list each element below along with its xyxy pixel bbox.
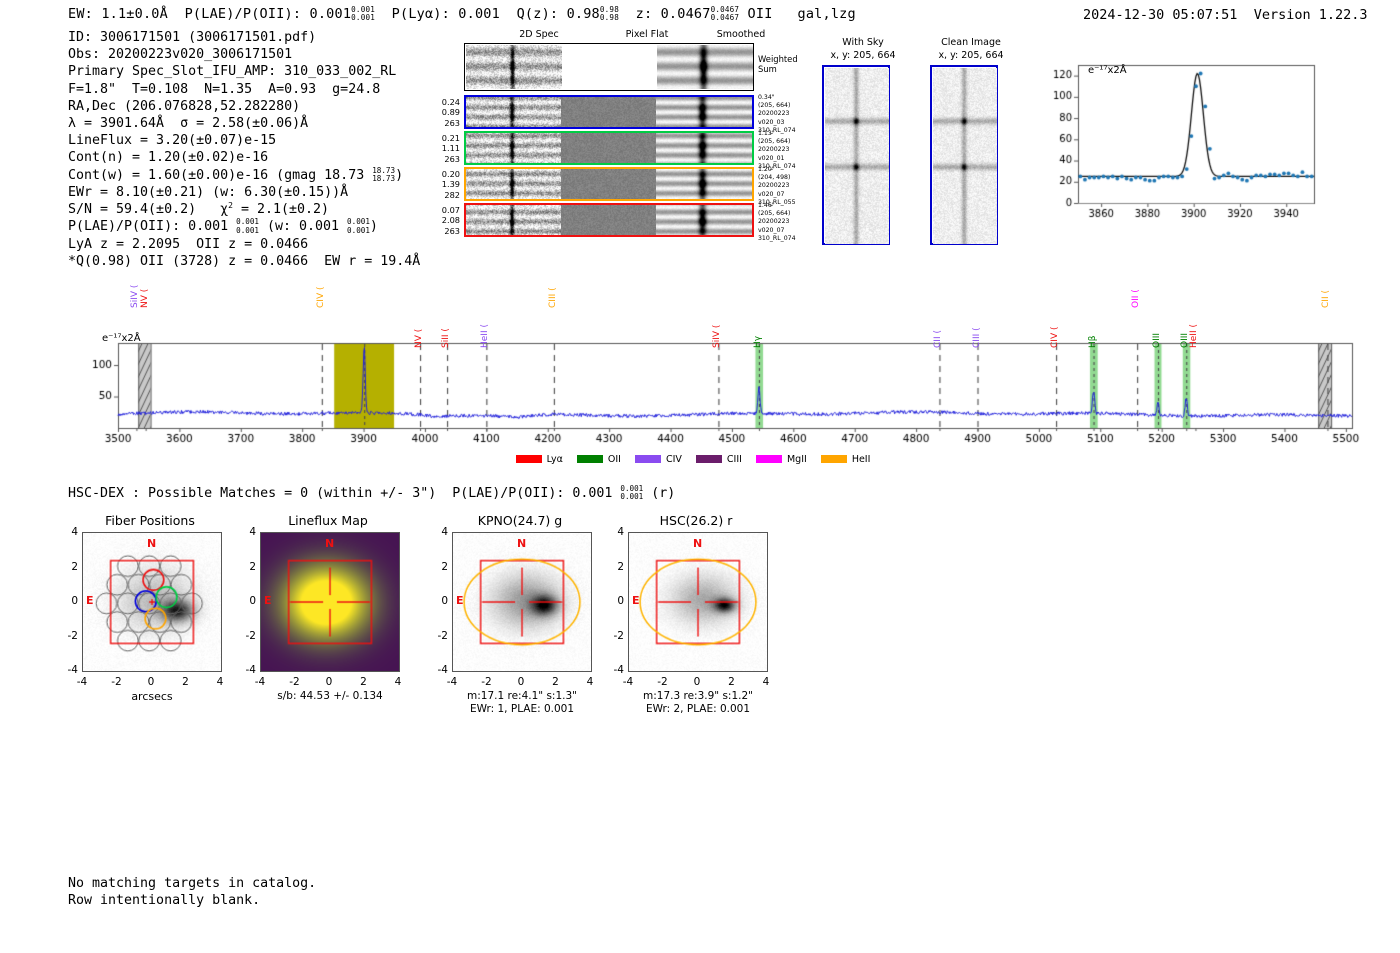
info-line-obs: Obs: 20200223v020_3006171501 <box>68 46 420 63</box>
legend-label: CIV <box>666 454 682 465</box>
panel-1-xtick-2: 0 <box>321 676 337 688</box>
spectrum-line-label-16: HeII ( <box>1189 324 1199 348</box>
cont-w-errors: 18.7318.73 <box>372 167 395 183</box>
info-line-cont-n: Cont(n) = 1.20(±0.02)e-16 <box>68 149 420 166</box>
fiber-2-info-3: v020_07 <box>758 191 816 199</box>
cutout-clean-coords: x, y: 205, 664 <box>916 50 1026 61</box>
target-info-block: ID: 3006171501 (3006171501.pdf) Obs: 202… <box>68 29 420 270</box>
weighted-sum-label: Weighted Sum <box>758 54 798 74</box>
spectrum-line-label-12: Hβ <box>1088 335 1098 348</box>
panel-0-ytick-2: 0 <box>60 595 78 607</box>
fiber-1-metric-0: 0.21 <box>426 133 460 143</box>
cutout-with-sky-coords: x, y: 205, 664 <box>808 50 918 61</box>
line-profile-chart: e⁻¹⁷x2Å <box>1038 55 1320 235</box>
spectrum-line-label-10: CIII ( <box>972 327 982 348</box>
info-line-sn: S/N = 59.4(±0.2) χ2 = 2.1(±0.2) <box>68 201 420 218</box>
info-line-plae: P(LAE)/P(OII): 0.001 0.0010.001 (w: 0.00… <box>68 218 420 235</box>
panel-3-image[interactable] <box>628 532 768 672</box>
panel-3-ytick-0: -4 <box>606 664 624 676</box>
panel-3-compass-e: E <box>632 594 640 607</box>
footer-note-1: No matching targets in catalog. <box>68 875 316 892</box>
fiber-strip-2[interactable] <box>464 167 754 201</box>
panel-3-xtick-0: -4 <box>620 676 636 688</box>
legend-item-1: OII <box>577 454 621 465</box>
spectrum-line-label-6: CIII ( <box>548 287 558 308</box>
legend-label: OII <box>608 454 621 465</box>
fiber-0-metric-1: 0.89 <box>426 107 460 117</box>
panel-0-compass-e: E <box>86 594 94 607</box>
fiber-2-metric-0: 0.20 <box>426 169 460 179</box>
panel-1-ytick-0: -4 <box>238 664 256 676</box>
info-line-id: ID: 3006171501 (3006171501.pdf) <box>68 29 420 46</box>
fiber-3-info-3: v020_07 <box>758 227 816 235</box>
cont-w-suffix: ) <box>395 168 403 183</box>
panel-2-xtick-0: -4 <box>444 676 460 688</box>
info-line-redshifts: LyA z = 2.2095 OII z = 0.0466 <box>68 236 420 253</box>
legend-swatch-icon <box>577 455 603 463</box>
spectrum-line-label-14: OIII <box>1152 333 1162 348</box>
panel-3-ytick-4: 4 <box>606 526 624 538</box>
legend-swatch-icon <box>516 455 542 463</box>
spectrum-legend: LyαOIICIVCIIIMgIIHeII <box>0 448 1400 467</box>
panel-1-ytick-3: 2 <box>238 561 256 573</box>
header-plae-errors: 0.0010.001 <box>351 6 375 22</box>
legend-item-0: Lyα <box>516 454 563 465</box>
legend-label: HeII <box>852 454 871 465</box>
fiber-0-metric-2: 263 <box>426 118 460 128</box>
fiber-3-info-4: 310_RL_074 <box>758 235 816 243</box>
header-qz-value: 0.98 <box>567 6 600 22</box>
panel-3-xtick-4: 4 <box>758 676 774 688</box>
legend-label: Lyα <box>547 454 563 465</box>
panel-3-caption: m:17.3 re:3.9" s:1.2" <box>606 690 790 702</box>
legend-item-4: MgII <box>756 454 807 465</box>
legend-swatch-icon <box>635 455 661 463</box>
fiber-2-info-1: (204, 498) <box>758 174 816 182</box>
line-profile-units: e⁻¹⁷x2Å <box>1088 65 1127 76</box>
panel-2: KPNO(24.7) g-4-4-2-2002244m:17.1 re:4.1"… <box>432 505 602 710</box>
legend-label: MgII <box>787 454 807 465</box>
fiber-0-info-3: v020_03 <box>758 119 816 127</box>
panel-2-ytick-1: -2 <box>430 630 448 642</box>
panel-0-ytick-1: -2 <box>60 630 78 642</box>
panel-3-caption2: EWr: 2, PLAE: 0.001 <box>606 703 790 715</box>
cutout-with-sky-image[interactable] <box>822 65 890 245</box>
fiber-left-labels-2: 0.201.39282 <box>426 169 460 200</box>
spectrum-line-label-11: CIV ( <box>1050 327 1060 348</box>
weighted-sum-strip <box>464 43 754 91</box>
spectrum-line-label-8: Hγ <box>753 336 763 348</box>
panel-1-compass-n: N <box>325 537 334 550</box>
header-datetime: 2024-12-30 05:07:51 <box>1083 7 1237 23</box>
spec2d-col-title-2dspec: 2D Spec <box>484 29 594 40</box>
panel-1-caption: s/b: 44.53 +/- 0.134 <box>238 690 422 702</box>
legend-swatch-icon <box>821 455 847 463</box>
header-plae-label: P(LAE)/P(OII): <box>185 6 302 22</box>
panel-2-ytick-4: 4 <box>430 526 448 538</box>
panel-2-ytick-0: -4 <box>430 664 448 676</box>
spectrum-line-label-13: OII ( <box>1131 289 1141 308</box>
spectrum-line-label-5: HeII ( <box>480 324 490 348</box>
spectrum-line-label-7: SiIV ( <box>712 325 722 348</box>
spec2d-col-title-smoothed: Smoothed <box>686 29 796 40</box>
panel-0-xtick-4: 4 <box>212 676 228 688</box>
fiber-strip-3[interactable] <box>464 203 754 237</box>
legend-item-3: CIII <box>696 454 742 465</box>
panel-0-xtick-2: 0 <box>143 676 159 688</box>
fiber-right-labels-0: 0.34"(205, 664)20200223v020_03310_RL_074 <box>758 94 816 135</box>
spectrum-line-label-0: SiIV ( <box>130 285 140 308</box>
bottom-panel-row: Fiber Positions-4-4-2-2002244arcsecsNELi… <box>0 505 1400 725</box>
panel-2-title: KPNO(24.7) g <box>450 513 590 528</box>
fiber-1-metric-2: 263 <box>426 154 460 164</box>
header-z-species: OII <box>748 6 773 22</box>
spectrum-line-label-4: SiII ( <box>441 328 451 348</box>
footer-notes: No matching targets in catalog. Row inte… <box>68 875 316 909</box>
fiber-strip-0[interactable] <box>464 95 754 129</box>
panel-2-compass-e: E <box>456 594 464 607</box>
panel-1-xtick-1: -2 <box>287 676 303 688</box>
fiber-3-metric-1: 2.08 <box>426 215 460 225</box>
panel-2-compass-n: N <box>517 537 526 550</box>
panel-0-title: Fiber Positions <box>80 513 220 528</box>
header-timestamp-block: 2024-12-30 05:07:51 Version 1.22.3 <box>1083 7 1368 23</box>
panel-2-caption: m:17.1 re:4.1" s:1.3" <box>430 690 614 702</box>
plae-mid: (w: 0.001 <box>259 220 347 235</box>
info-line-best-solution: *Q(0.98) OII (3728) z = 0.0466 EW r = 19… <box>68 253 420 270</box>
info-line-radec: RA,Dec (206.076828,52.282280) <box>68 98 420 115</box>
panel-3: HSC(26.2) r-4-4-2-2002244m:17.3 re:3.9" … <box>608 505 778 710</box>
fiber-0-info-2: 20200223 <box>758 110 816 118</box>
hsc-dex-suffix: (r) <box>643 486 675 501</box>
plae-errors-1: 0.0010.001 <box>236 218 259 234</box>
fiber-1-metric-1: 1.11 <box>426 143 460 153</box>
fiber-3-info-1: (205, 664) <box>758 210 816 218</box>
spectrum-line-label-2: CIV ( <box>316 287 326 308</box>
fiber-right-labels-2: 1.20"(204, 498)20200223v020_07310_RL_055 <box>758 166 816 207</box>
header-plya-value: 0.001 <box>458 6 500 22</box>
panel-2-image[interactable] <box>452 532 592 672</box>
fiber-2-metric-2: 282 <box>426 190 460 200</box>
spectrum-line-label-9: CII ( <box>933 330 943 348</box>
panel-3-compass-n: N <box>693 537 702 550</box>
header-z-value: 0.0467 <box>661 6 711 22</box>
hsc-dex-summary: HSC-DEX : Possible Matches = 0 (within +… <box>68 485 675 501</box>
fiber-2-info-0: 1.20" <box>758 166 816 174</box>
plae-prefix: P(LAE)/P(OII): 0.001 <box>68 220 236 235</box>
fiber-right-labels-1: 1.13"(205, 664)20200223v020_01310_RL_074 <box>758 130 816 171</box>
panel-0-xtick-1: -2 <box>109 676 125 688</box>
cutout-clean-image[interactable] <box>930 65 998 245</box>
panel-1-title: Lineflux Map <box>258 513 398 528</box>
hsc-dex-plae-errors: 0.0010.001 <box>620 485 643 501</box>
spectrum-line-label-17: CII ( <box>1321 290 1331 308</box>
header-summary-line: EW: 1.1±0.0Å P(LAE)/P(OII): 0.0010.0010.… <box>68 6 856 22</box>
panel-0-ytick-4: 4 <box>60 526 78 538</box>
header-qz-errors: 0.980.98 <box>600 6 619 22</box>
fiber-1-info-3: v020_01 <box>758 155 816 163</box>
panel-3-xtick-3: 2 <box>724 676 740 688</box>
legend-swatch-icon <box>696 455 722 463</box>
panel-0-xtick-0: -4 <box>74 676 90 688</box>
fiber-right-labels-3: 1.46"(205, 664)20200223v020_07310_RL_074 <box>758 202 816 243</box>
fiber-0-metric-0: 0.24 <box>426 97 460 107</box>
panel-1-ytick-1: -2 <box>238 630 256 642</box>
fiber-left-labels-3: 0.072.08263 <box>426 205 460 236</box>
spectrum-line-label-1: NV ( <box>140 289 150 308</box>
panel-2-xtick-1: -2 <box>479 676 495 688</box>
panel-1-ytick-4: 4 <box>238 526 256 538</box>
header-ew-label: EW: <box>68 6 93 22</box>
plae-suffix: ) <box>370 220 378 235</box>
panel-0-xlabel: arcsecs <box>82 690 222 703</box>
panel-2-ytick-2: 0 <box>430 595 448 607</box>
header-z-errors: 0.04670.0467 <box>711 6 740 22</box>
footer-note-2: Row intentionally blank. <box>68 892 316 909</box>
panel-2-caption2: EWr: 1, PLAE: 0.001 <box>430 703 614 715</box>
panel-3-xtick-2: 0 <box>689 676 705 688</box>
legend-swatch-icon <box>756 455 782 463</box>
info-line-lineflux: LineFlux = 3.20(±0.07)e-15 <box>68 132 420 149</box>
panel-3-xtick-1: -2 <box>655 676 671 688</box>
fiber-2-metric-1: 1.39 <box>426 179 460 189</box>
weighted-sum-pixelflat <box>562 45 657 89</box>
panel-0: Fiber Positions-4-4-2-2002244arcsecsNE <box>62 505 232 710</box>
spectrum-line-label-3: NV ( <box>414 329 424 348</box>
header-qz-label: Q(z): <box>517 6 559 22</box>
panel-1: Lineflux Map-4-4-2-2002244s/b: 44.53 +/-… <box>240 505 410 710</box>
panel-1-ytick-2: 0 <box>238 595 256 607</box>
legend-item-2: CIV <box>635 454 682 465</box>
fiber-3-info-0: 1.46" <box>758 202 816 210</box>
legend-label: CIII <box>727 454 742 465</box>
panel-3-title: HSC(26.2) r <box>626 513 766 528</box>
panel-0-ytick-0: -4 <box>60 664 78 676</box>
panel-1-xtick-4: 4 <box>390 676 406 688</box>
fiber-strip-1[interactable] <box>464 131 754 165</box>
panel-2-ytick-3: 2 <box>430 561 448 573</box>
panel-3-ytick-3: 2 <box>606 561 624 573</box>
header-plae-value: 0.001 <box>310 6 352 22</box>
plae-errors-2: 0.0010.001 <box>347 218 370 234</box>
fiber-left-labels-0: 0.240.89263 <box>426 97 460 128</box>
info-line-seeing: F=1.8" T=0.108 N=1.35 A=0.93 g=24.8 <box>68 81 420 98</box>
hsc-dex-text: HSC-DEX : Possible Matches = 0 (within +… <box>68 486 620 501</box>
header-z-label: z: <box>636 6 653 22</box>
fiber-1-info-2: 20200223 <box>758 146 816 154</box>
header-ew-value: 1.1±0.0Å <box>101 6 168 22</box>
fiber-1-info-0: 1.13" <box>758 130 816 138</box>
panel-2-xtick-2: 0 <box>513 676 529 688</box>
panel-2-xtick-3: 2 <box>548 676 564 688</box>
fiber-left-labels-1: 0.211.11263 <box>426 133 460 164</box>
fiber-1-info-1: (205, 664) <box>758 138 816 146</box>
fiber-2-info-2: 20200223 <box>758 182 816 190</box>
info-line-primary-spec: Primary Spec_Slot_IFU_AMP: 310_033_002_R… <box>68 63 420 80</box>
panel-3-ytick-2: 0 <box>606 595 624 607</box>
header-plya-label: P(Lyα): <box>392 6 450 22</box>
header-version: Version 1.22.3 <box>1254 7 1368 23</box>
fiber-3-info-2: 20200223 <box>758 218 816 226</box>
info-line-cont-w: Cont(w) = 1.60(±0.00)e-16 (gmag 18.73 18… <box>68 167 420 184</box>
sn-prefix: S/N = 59.4(±0.2) χ <box>68 202 228 217</box>
fiber-3-metric-2: 263 <box>426 226 460 236</box>
info-line-wavelength: λ = 3901.64Å σ = 2.58(±0.06)Å <box>68 115 420 132</box>
panel-1-compass-e: E <box>264 594 272 607</box>
panel-1-xtick-0: -4 <box>252 676 268 688</box>
cutout-clean-title: Clean Image <box>916 37 1026 48</box>
panel-2-xtick-4: 4 <box>582 676 598 688</box>
info-line-ewr: EWr = 8.10(±0.21) (w: 6.30(±0.15))Å <box>68 184 420 201</box>
fiber-0-info-1: (205, 664) <box>758 102 816 110</box>
panel-1-xtick-3: 2 <box>356 676 372 688</box>
legend-item-5: HeII <box>821 454 871 465</box>
cont-w-prefix: Cont(w) = 1.60(±0.00)e-16 (gmag 18.73 <box>68 168 372 183</box>
panel-1-image[interactable] <box>260 532 400 672</box>
fiber-0-info-0: 0.34" <box>758 94 816 102</box>
fiber-3-metric-0: 0.07 <box>426 205 460 215</box>
panel-0-ytick-3: 2 <box>60 561 78 573</box>
header-classification: gal,lzg <box>798 6 856 22</box>
panel-0-compass-n: N <box>147 537 156 550</box>
sn-suffix: = 2.1(±0.2) <box>233 202 329 217</box>
panel-0-image[interactable] <box>82 532 222 672</box>
panel-3-ytick-1: -2 <box>606 630 624 642</box>
cutout-with-sky-title: With Sky <box>808 37 918 48</box>
panel-0-xtick-3: 2 <box>178 676 194 688</box>
